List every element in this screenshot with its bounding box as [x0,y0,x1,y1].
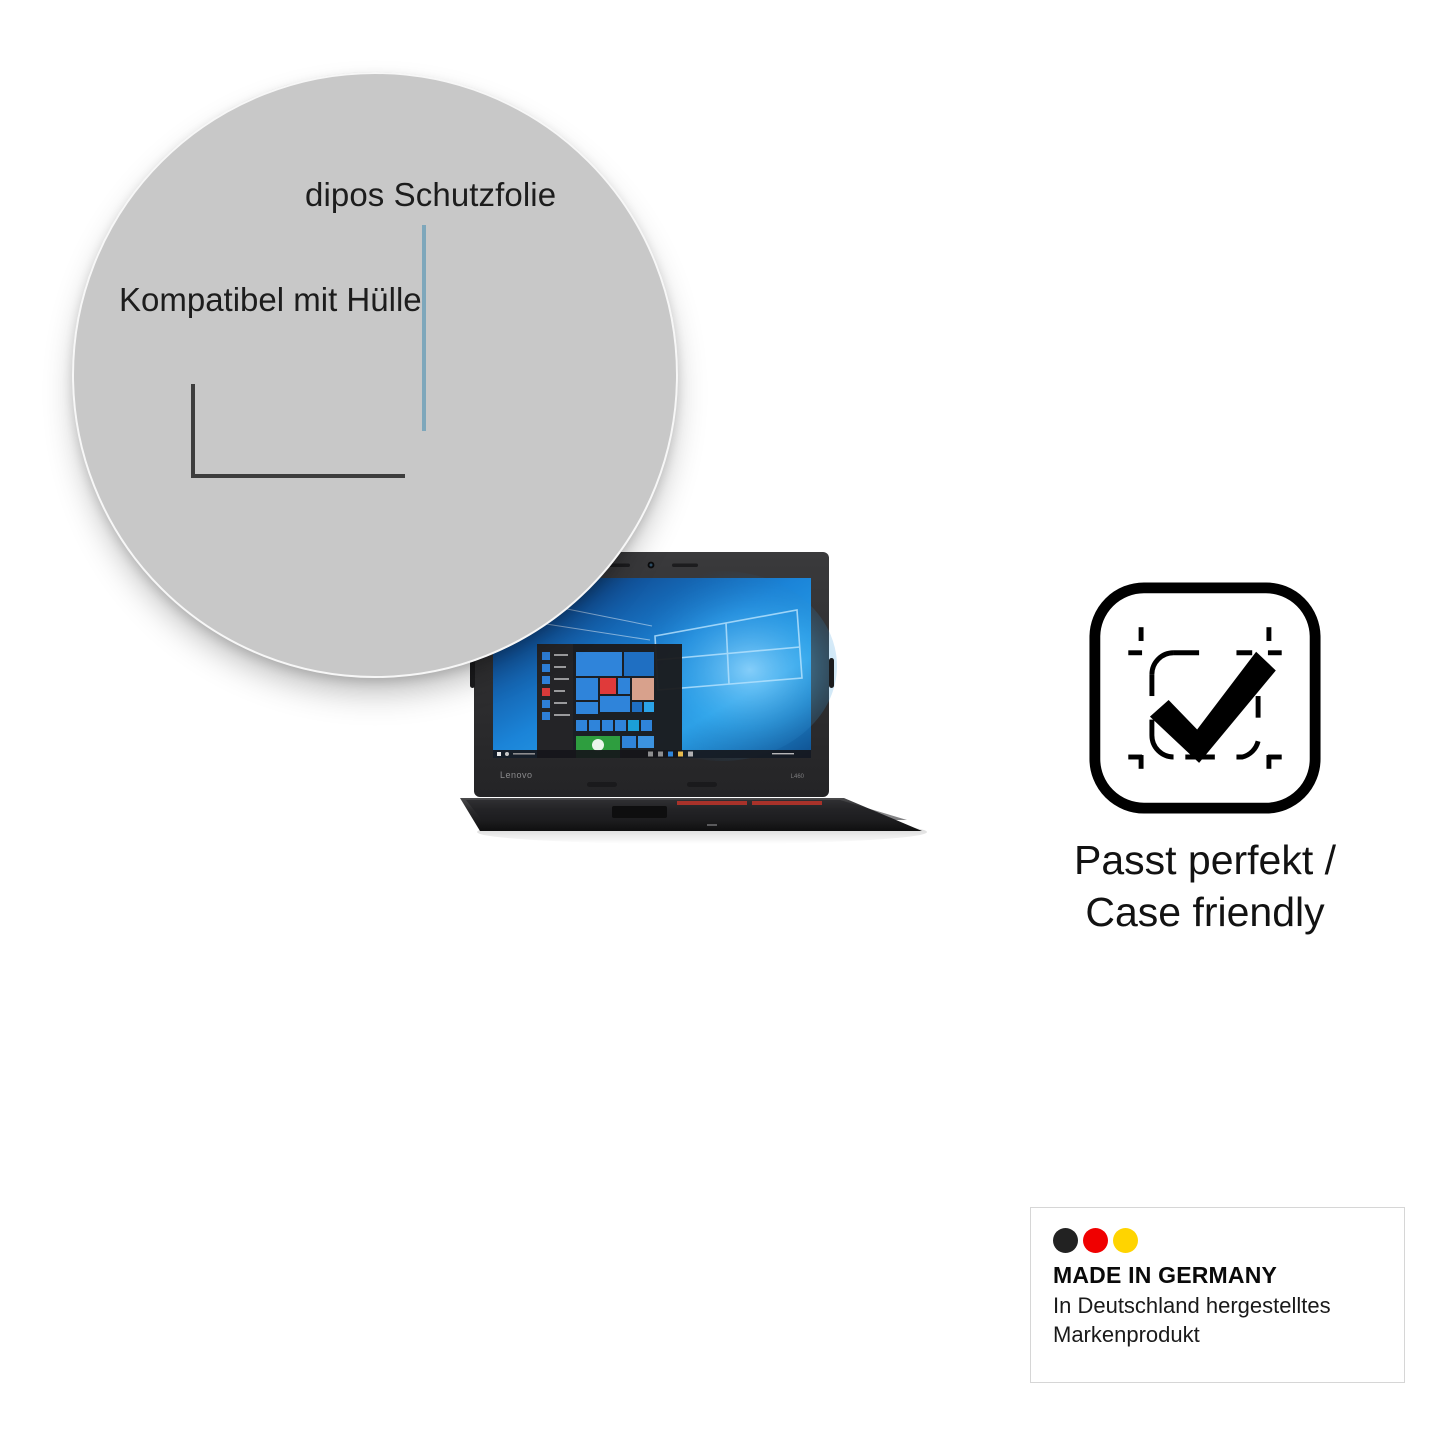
made-in-germany-badge: MADE IN GERMANY In Deutschland hergestel… [1030,1207,1405,1383]
brand-label: dipos Schutzfolie [305,176,556,214]
magnifier-circle: dipos Schutzfolie Kompatibel mit Hülle [72,72,678,678]
compatible-with-case-label: Kompatibel mit Hülle [119,274,422,327]
windows-taskbar [493,750,811,758]
flag-dot-red [1083,1228,1108,1253]
case-friendly-block: Passt perfekt / Case friendly [1005,580,1405,939]
rounded-square-frame [1095,588,1315,808]
made-in-germany-title: MADE IN GERMANY [1053,1262,1404,1289]
windows-start-menu [537,644,682,758]
blue-leader-line [422,225,426,431]
flag-dot-black [1053,1228,1078,1253]
case-friendly-check-icon [1087,580,1323,816]
made-in-germany-subtitle: In Deutschland hergestelltes Markenprodu… [1053,1292,1404,1349]
laptop-base [460,798,922,831]
corner-leader-horizontal-segment [191,474,405,478]
flag-dot-gold [1113,1228,1138,1253]
corner-leader-line [191,384,405,478]
corner-leader-vertical-segment [191,384,195,478]
german-flag-dots [1053,1228,1404,1253]
laptop-brand-text: Lenovo [500,770,533,780]
case-friendly-caption: Passt perfekt / Case friendly [1005,834,1405,939]
magnifier-circle-inner: dipos Schutzfolie Kompatibel mit Hülle [72,72,678,678]
laptop-model-text: L460 [791,774,805,780]
